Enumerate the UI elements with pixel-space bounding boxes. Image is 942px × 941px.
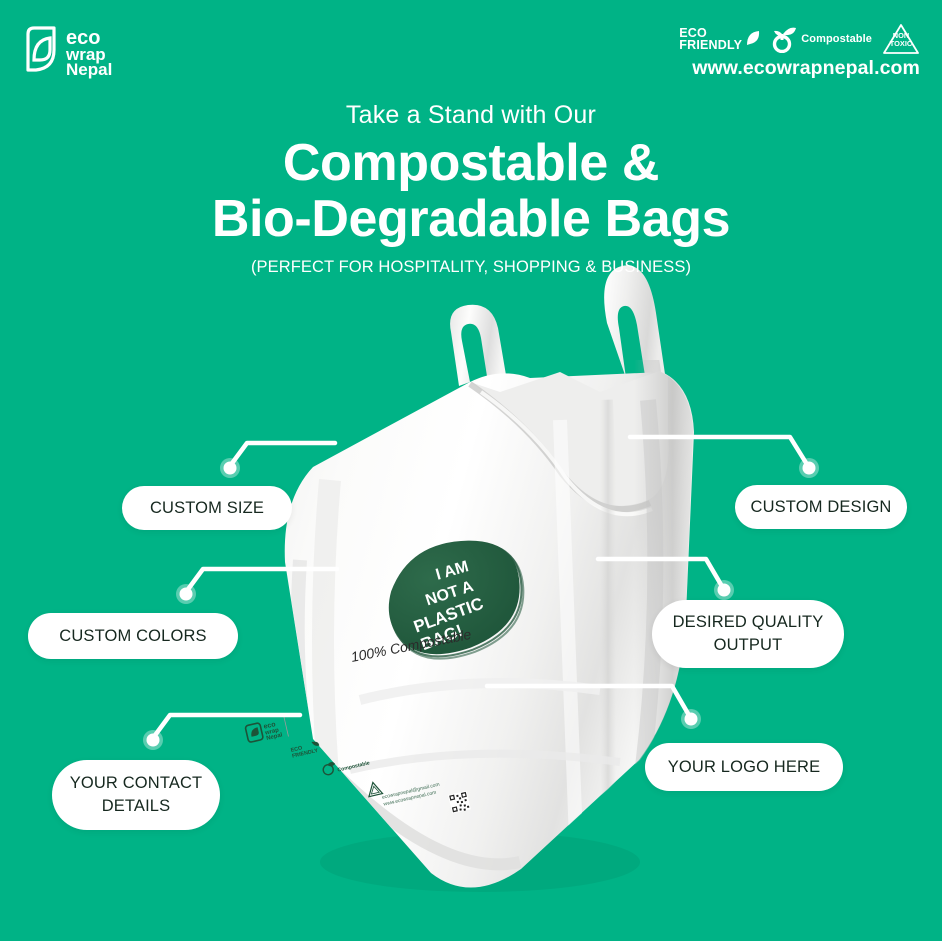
bag-mini-eco-friendly: ECO FRIENDLY (290, 740, 321, 759)
headline-title-line-2: Bio-Degradable Bags (0, 191, 942, 247)
callout-custom-colors[interactable]: CUSTOM COLORS (28, 613, 238, 659)
non-toxic-badge: NON TOXIC (882, 23, 920, 55)
headline-kicker: Take a Stand with Our (0, 100, 942, 130)
headline-subtitle: (PERFECT FOR HOSPITALITY, SHOPPING & BUS… (0, 258, 942, 277)
header-certification-badges: ECO FRIENDLY Compostable (679, 22, 920, 80)
eco-friendly-line-2: FRIENDLY (679, 39, 742, 52)
non-toxic-line-2: TOXIC (882, 40, 920, 48)
callout-your-logo-here[interactable]: YOUR LOGO HERE (645, 743, 843, 791)
compostable-label: Compostable (801, 33, 872, 45)
compost-seedling-icon (771, 25, 797, 53)
headline-block: Take a Stand with Our Compostable & Bio-… (0, 100, 942, 277)
callout-desired-quality-output[interactable]: DESIRED QUALITY OUTPUT (652, 600, 844, 668)
bag-mini-logo: eco wrap Nepal (245, 716, 289, 746)
compostable-badge: Compostable (771, 25, 872, 53)
website-url[interactable]: www.ecowrapnepal.com (679, 57, 920, 80)
logo-mark (28, 28, 54, 70)
poster-canvas: I AM NOT A PLASTIC BAG! 100% Compostable… (0, 0, 942, 941)
headline-title: Compostable & Bio-Degradable Bags (0, 135, 942, 247)
eco-friendly-badge: ECO FRIENDLY (679, 27, 761, 52)
logo-line-nepal: Nepal (66, 60, 112, 79)
callout-custom-size[interactable]: CUSTOM SIZE (122, 486, 292, 530)
leaf-icon (745, 29, 761, 49)
headline-title-line-1: Compostable & (283, 134, 659, 192)
callout-custom-design[interactable]: CUSTOM DESIGN (735, 485, 907, 529)
ecowrap-nepal-logo[interactable]: eco wrap Nepal (22, 22, 152, 80)
callout-your-contact-details[interactable]: YOUR CONTACT DETAILS (52, 760, 220, 830)
